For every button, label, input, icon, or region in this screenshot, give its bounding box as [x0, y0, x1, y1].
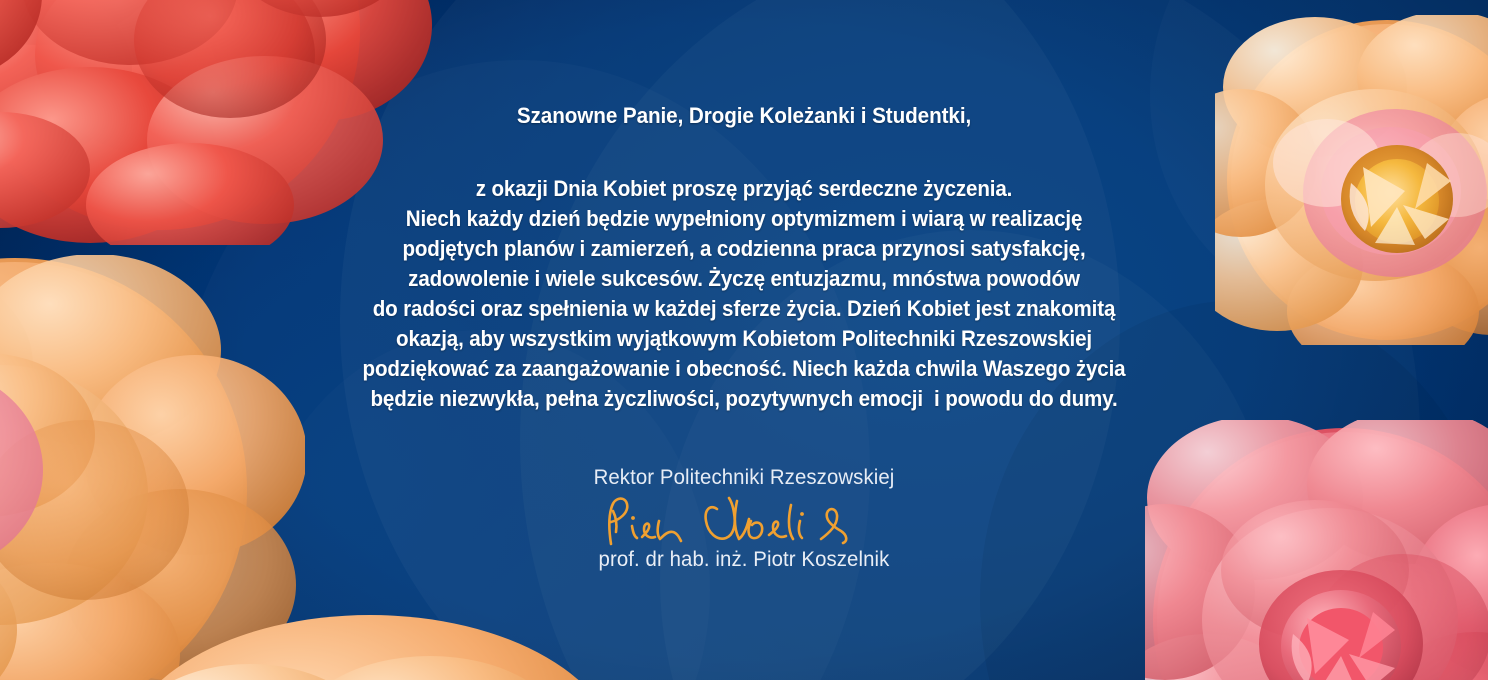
message-body: z okazji Dnia Kobiet proszę przyjąć serd… — [0, 174, 1488, 414]
signature-name: prof. dr hab. inż. Piotr Koszelnik — [22, 548, 1465, 572]
message-line: będzie niezwykła, pełna życzliwości, poz… — [48, 384, 1439, 414]
message-line: zadowolenie i wiele sukcesów. Życzę entu… — [48, 264, 1439, 294]
signature-icon — [0, 492, 1488, 552]
greeting-card: Szanowne Panie, Drogie Koleżanki i Stude… — [0, 0, 1488, 680]
message-line: Niech każdy dzień będzie wypełniony opty… — [48, 204, 1439, 234]
signature-role: Rektor Politechniki Rzeszowskiej — [22, 466, 1465, 490]
message-line: do radości oraz spełnienia w każdej sfer… — [48, 294, 1439, 324]
greeting-line: Szanowne Panie, Drogie Koleżanki i Stude… — [45, 103, 1444, 129]
message-line: z okazji Dnia Kobiet proszę przyjąć serd… — [48, 174, 1439, 204]
message-line: podjętych planów i zamierzeń, a codzienn… — [48, 234, 1439, 264]
signature-block: Rektor Politechniki Rzeszowskiej — [0, 466, 1488, 572]
message-line: podziękować za zaangażowanie i obecność.… — [48, 354, 1439, 384]
message-line: okazją, aby wszystkim wyjątkowym Kobieto… — [48, 324, 1439, 354]
